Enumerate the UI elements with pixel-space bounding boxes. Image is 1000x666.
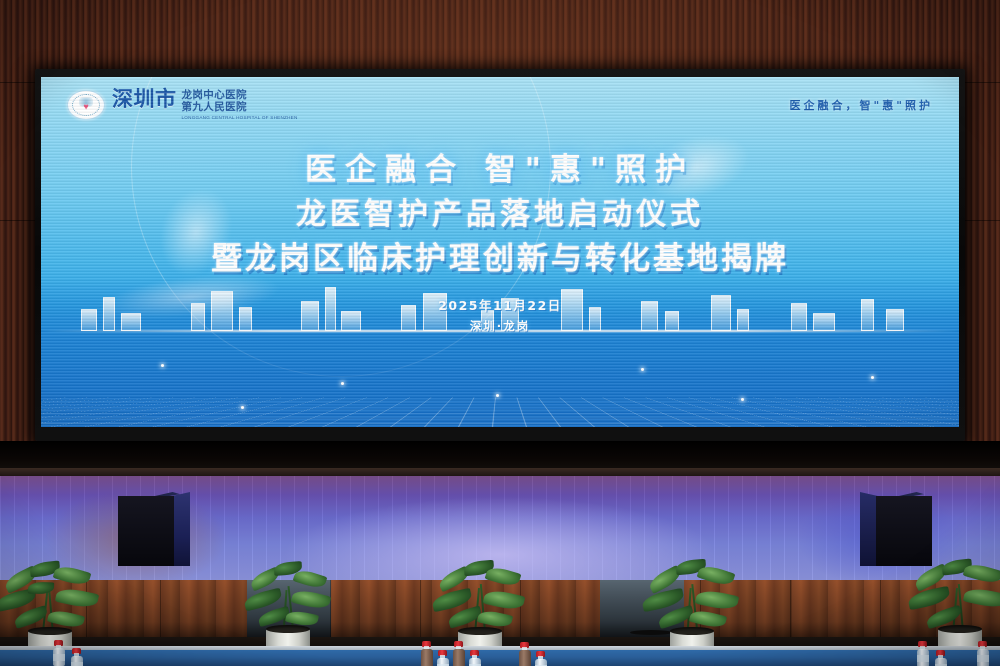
event-date: 2025年11月22日 — [41, 295, 959, 314]
title-line-1: 医企融合 智"惠"照护 — [41, 151, 959, 190]
conference-stage-scene: ♥ 深圳市 龙岗中心医院 第九人民医院 LONGGANG CENTRAL HOS… — [0, 0, 1000, 666]
led-screen: ♥ 深圳市 龙岗中心医院 第九人民医院 LONGGANG CENTRAL HOS… — [41, 77, 959, 427]
hospital-emblem-icon: ♥ — [67, 90, 105, 120]
wall-seam — [0, 220, 36, 221]
corner-slogan: 医企融合，智"惠"照护 — [790, 97, 933, 113]
front-table-cloth — [0, 650, 1000, 666]
wall-seam — [965, 220, 1000, 221]
hospital-logo: ♥ 深圳市 龙岗中心医院 第九人民医院 LONGGANG CENTRAL HOS… — [67, 89, 298, 120]
stage-monitor-speaker-left — [118, 492, 188, 566]
logo-hospital-line2: 第九人民医院 — [182, 102, 298, 113]
event-title-block: 医企融合 智"惠"照护 龙医智护产品落地启动仪式 暨龙岗区临床护理创新与转化基地… — [41, 151, 959, 334]
floor-cable — [630, 630, 672, 635]
title-line-3: 暨龙岗区临床护理创新与转化基地揭牌 — [41, 239, 959, 279]
perspective-grid — [41, 397, 959, 427]
logo-english-name: LONGGANG CENTRAL HOSPITAL OF SHENZHEN — [182, 115, 298, 120]
title-line-2: 龙医智护产品落地启动仪式 — [41, 195, 959, 234]
logo-city-name: 深圳市 — [112, 89, 177, 110]
logo-hospital-line1: 龙岗中心医院 — [182, 90, 298, 101]
stage-monitor-speaker-right — [862, 492, 932, 566]
event-place: 深圳·龙岗 — [41, 318, 959, 334]
